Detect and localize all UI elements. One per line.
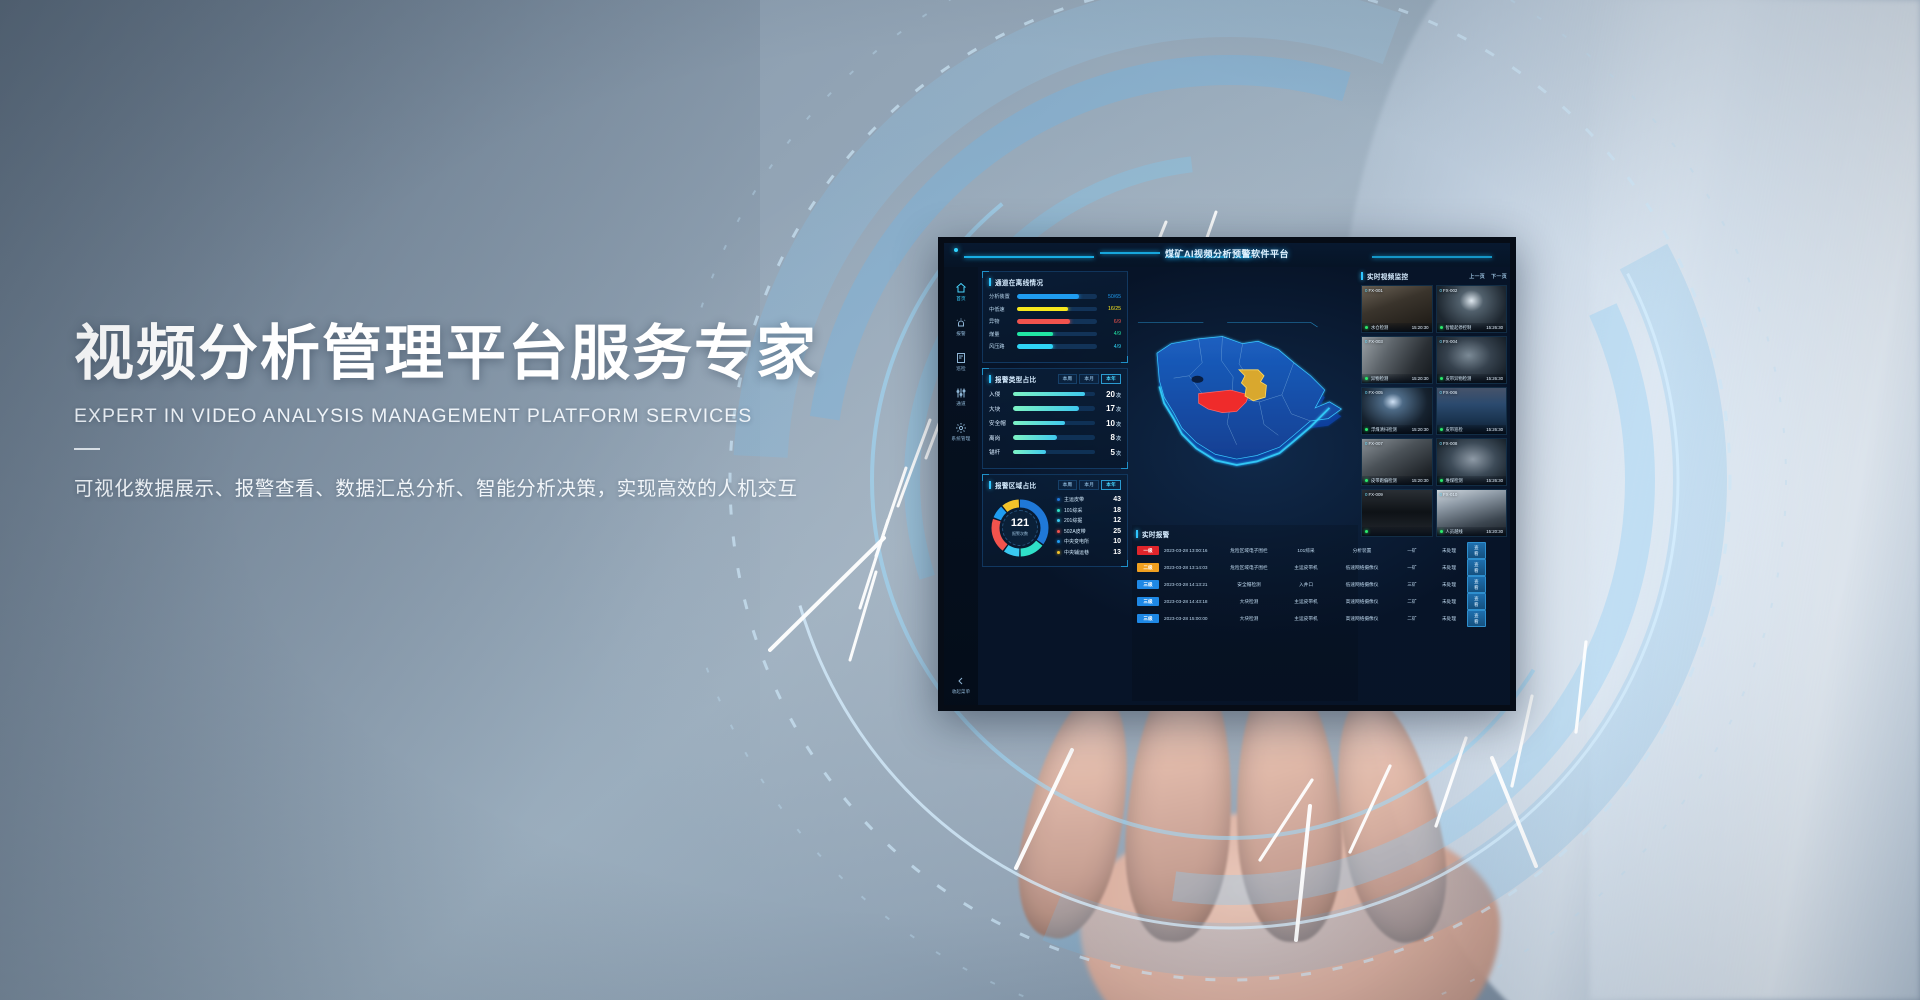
vignette-overlay (0, 0, 1920, 1000)
